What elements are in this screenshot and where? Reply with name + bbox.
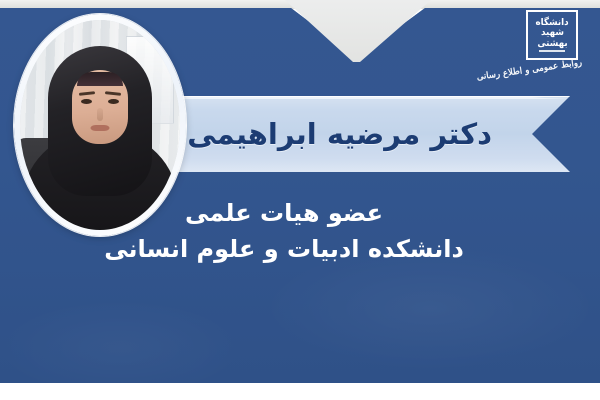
subtitle-block: عضو هیات علمی دانشکده ادبیات و علوم انسا… bbox=[0, 196, 568, 266]
person-mouth bbox=[91, 125, 110, 131]
subtitle-faculty: دانشکده ادبیات و علوم انسانی bbox=[0, 232, 568, 266]
logo-underline bbox=[539, 50, 565, 52]
logo-word-beheshti: بهشتی bbox=[537, 39, 567, 49]
person-eyebrow-right bbox=[105, 91, 121, 96]
logo-emblem-box: دانشگاه شهید بهشتی bbox=[526, 10, 578, 60]
person-eye-right bbox=[108, 99, 119, 104]
person-eyebrow-left bbox=[79, 91, 95, 96]
person-nose bbox=[97, 108, 103, 121]
person-hairline bbox=[77, 72, 123, 86]
bottom-white-strip bbox=[0, 383, 600, 400]
subtitle-role: عضو هیات علمی bbox=[0, 196, 568, 230]
logo-emblem-inner: دانشگاه شهید بهشتی bbox=[531, 15, 573, 55]
person-face bbox=[72, 70, 128, 144]
logo-public-relations-caption: روابط عمومی و اطلاع رسانی bbox=[483, 58, 582, 82]
person-eye-left bbox=[81, 99, 92, 104]
logo-word-shahid: شهید bbox=[541, 28, 564, 38]
university-logo: دانشگاه شهید بهشتی روابط عمومی و اطلاع ر… bbox=[476, 8, 584, 82]
faculty-profile-card: دکتر مرضیه ابراهیمی عضو هیات علمی دانشکد… bbox=[0, 0, 600, 400]
logo-word-daneshgah: دانشگاه bbox=[535, 18, 568, 28]
